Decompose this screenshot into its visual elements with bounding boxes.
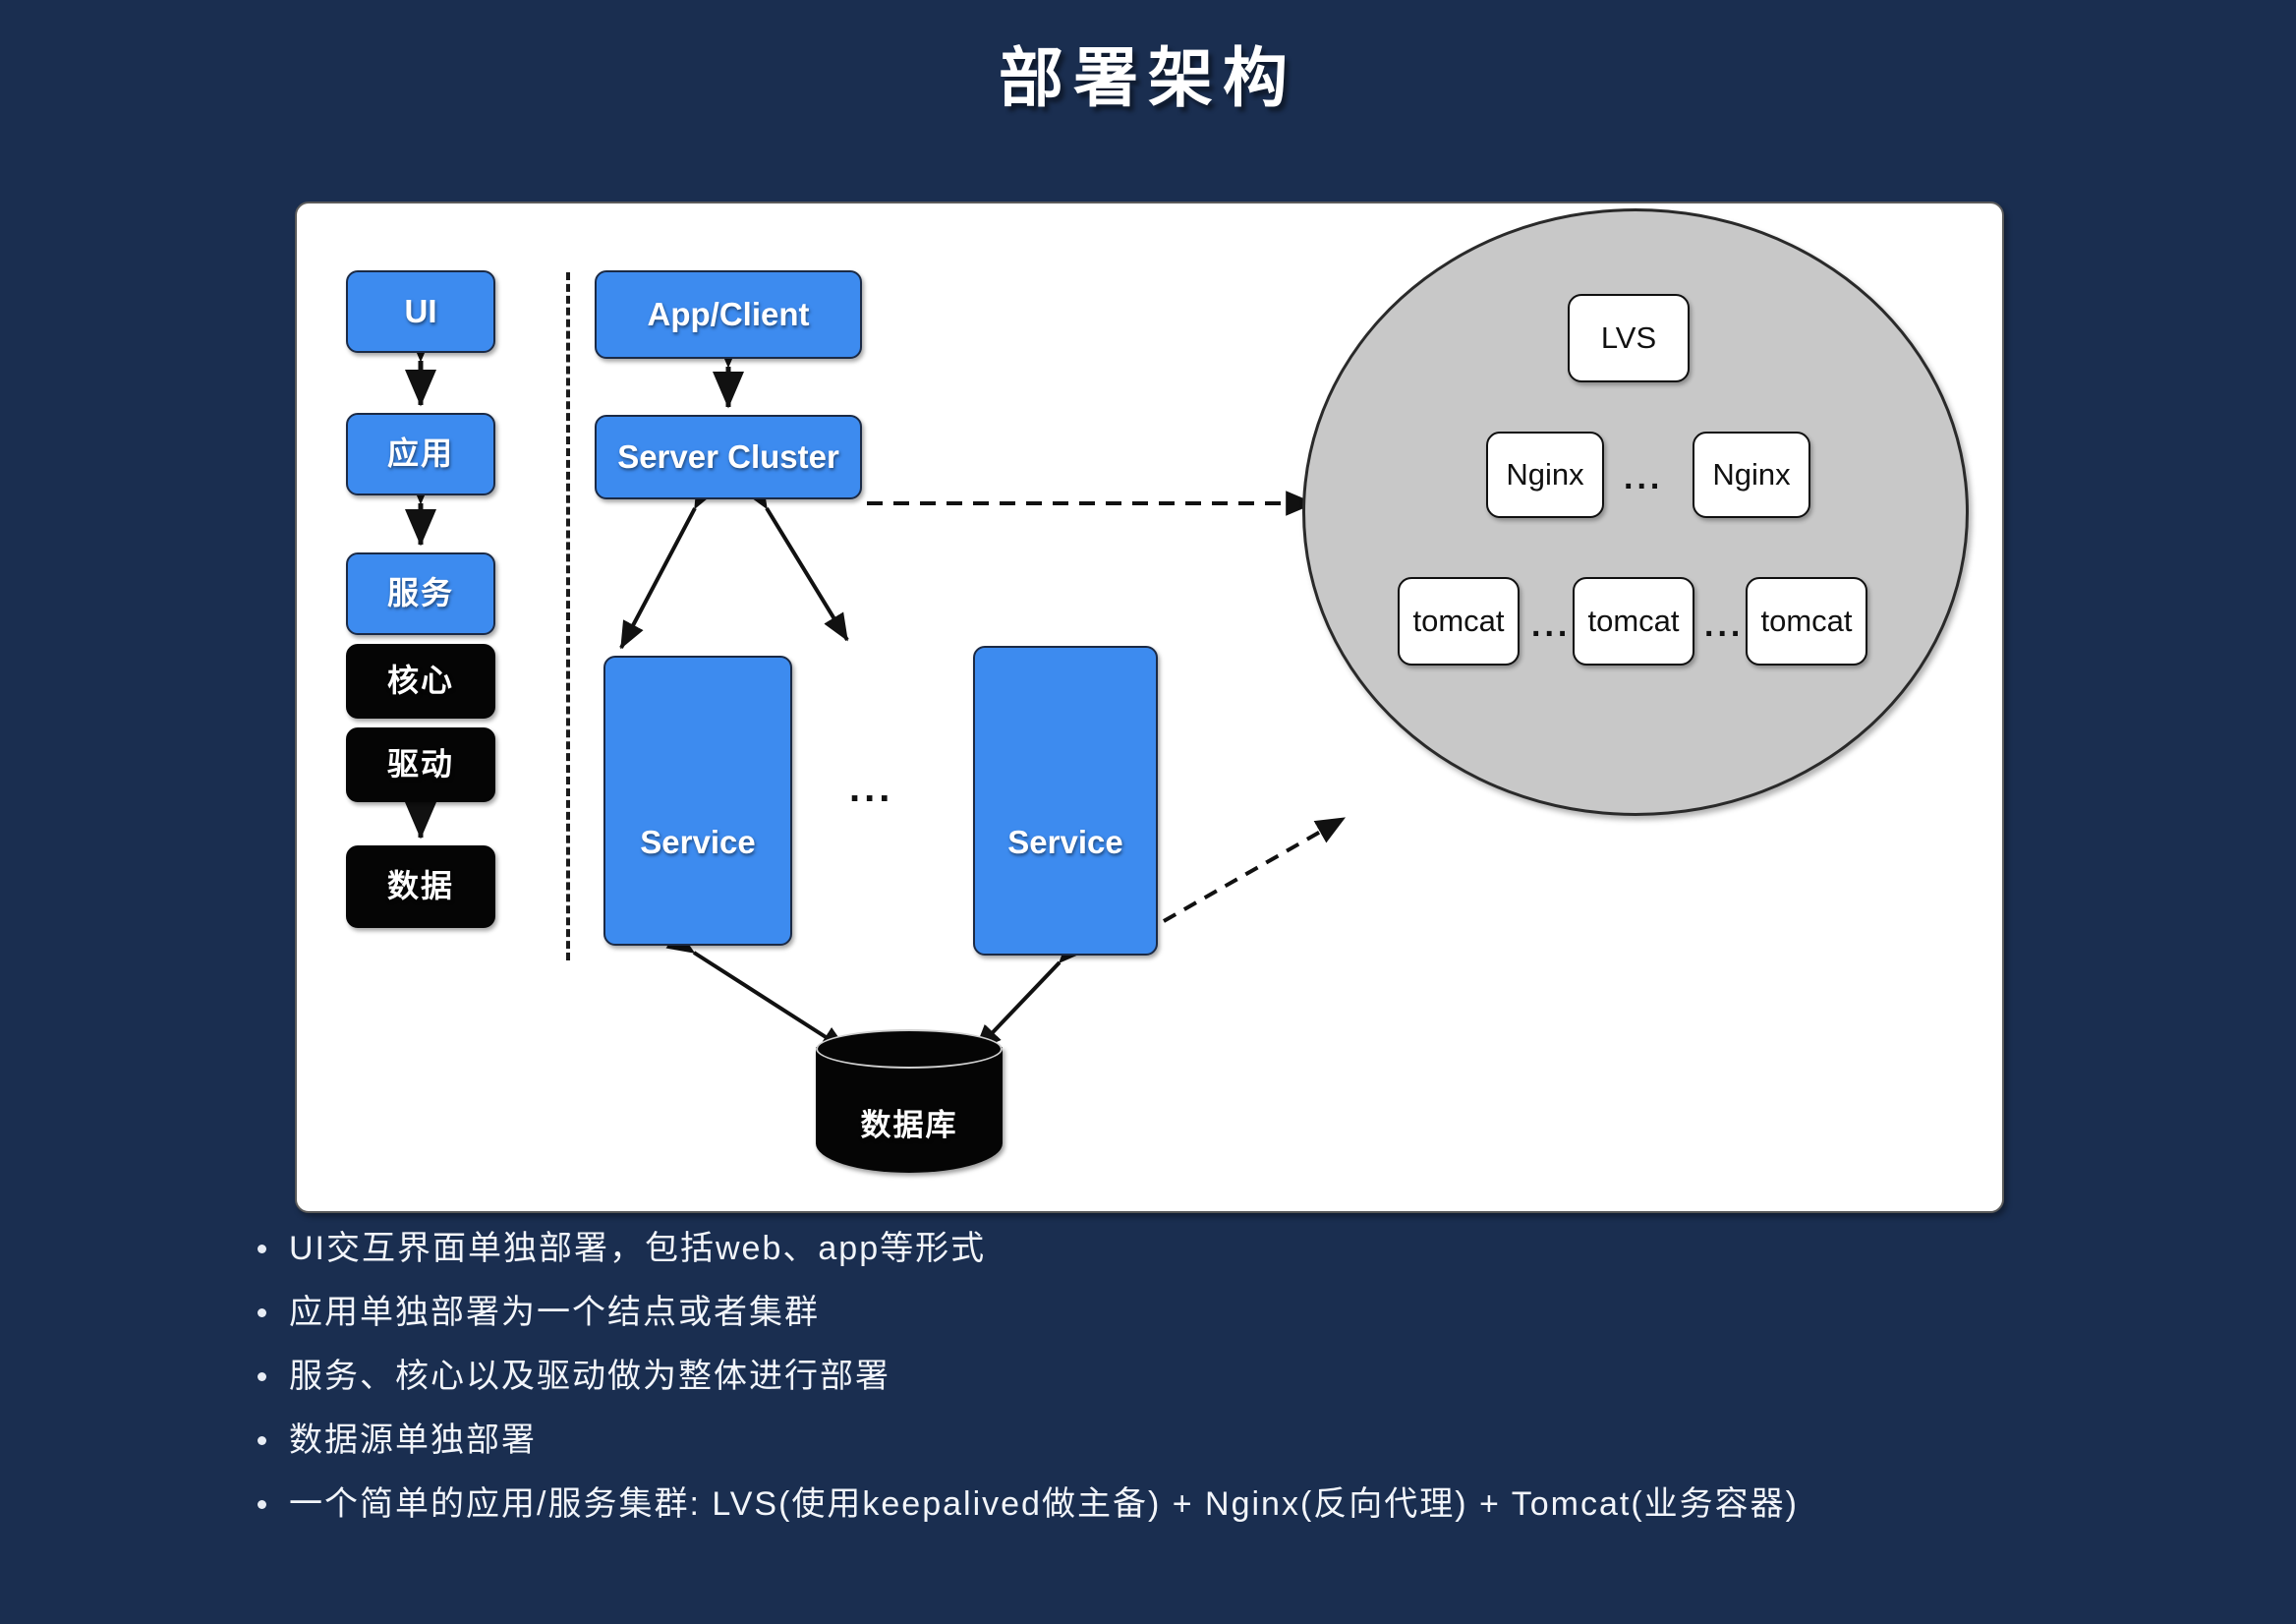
node-tomcat-3[interactable]: tomcat (1746, 577, 1867, 666)
node-tomcat-2[interactable]: tomcat (1573, 577, 1694, 666)
column-divider (566, 272, 570, 960)
node-service-b[interactable]: Service (973, 646, 1158, 956)
nginx-ellipsis: ... (1624, 461, 1663, 494)
list-item: 数据源单独部署 (254, 1419, 2180, 1463)
node-database[interactable]: 数据库 (816, 1029, 1003, 1177)
page-title: 部署架构 (0, 26, 2296, 120)
tomcat-ellipsis-2: ... (1704, 609, 1744, 642)
services-ellipsis: ... (849, 769, 893, 808)
node-service-a-label: Service (605, 825, 790, 860)
node-driver[interactable]: 驱动 (346, 727, 495, 802)
node-server-cluster[interactable]: Server Cluster (595, 415, 862, 499)
node-application[interactable]: 应用 (346, 413, 495, 495)
node-service-b-label: Service (975, 825, 1156, 860)
node-tomcat-1[interactable]: tomcat (1398, 577, 1520, 666)
list-item: UI交互界面单独部署，包括web、app等形式 (254, 1227, 2180, 1271)
node-ui[interactable]: UI (346, 270, 495, 353)
cylinder-top (816, 1029, 1003, 1069)
node-core[interactable]: 核心 (346, 644, 495, 719)
node-service-a[interactable]: Service (603, 656, 792, 946)
list-item: 服务、核心以及驱动做为整体进行部署 (254, 1355, 2180, 1399)
architecture-diagram-panel: UI 应用 服务 核心 驱动 数据 App/Client Server Clus… (295, 202, 2004, 1213)
node-nginx-right[interactable]: Nginx (1693, 432, 1810, 518)
node-database-label: 数据库 (816, 1100, 1003, 1144)
tomcat-ellipsis-1: ... (1531, 609, 1571, 642)
node-app-client[interactable]: App/Client (595, 270, 862, 359)
list-item: 应用单独部署为一个结点或者集群 (254, 1291, 2180, 1335)
node-lvs[interactable]: LVS (1568, 294, 1690, 382)
node-data[interactable]: 数据 (346, 845, 495, 928)
node-nginx-left[interactable]: Nginx (1486, 432, 1604, 518)
bullet-list: UI交互界面单独部署，包括web、app等形式 应用单独部署为一个结点或者集群 … (254, 1227, 2180, 1545)
list-item: 一个简单的应用/服务集群: LVS(使用keepalived做主备) + Ngi… (254, 1482, 2058, 1527)
node-service-layer[interactable]: 服务 (346, 552, 495, 635)
